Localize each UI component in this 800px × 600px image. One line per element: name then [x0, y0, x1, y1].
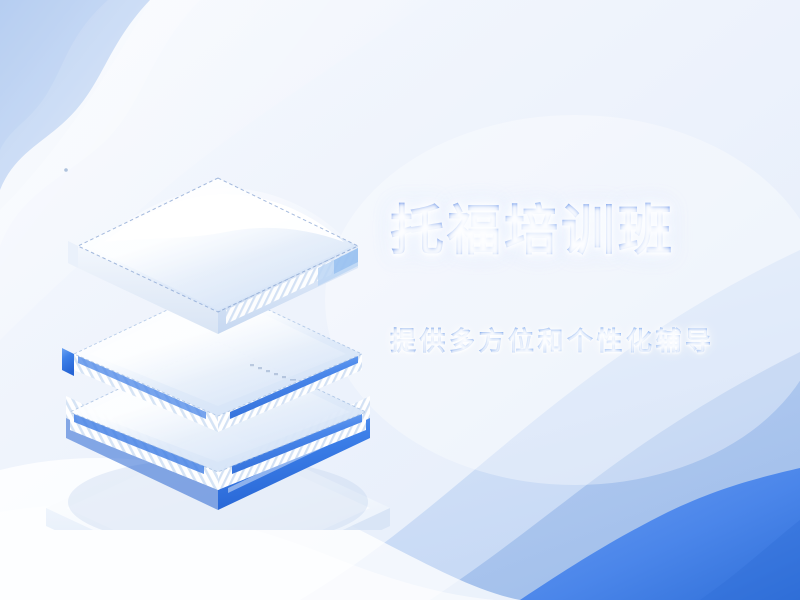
- book-stack-svg: [18, 150, 418, 530]
- wave-bottom-right-light: [430, 352, 800, 600]
- poster-text-block: 托福培训班 托福培训班 提供多方位和个性化辅导: [390, 200, 790, 358]
- wave-bottom-right-strong: [520, 468, 800, 600]
- wave-bottom-right-accent: [700, 520, 800, 600]
- page-subtitle: 提供多方位和个性化辅导: [390, 321, 790, 358]
- wave-top-left-deep: [0, 0, 108, 150]
- poster-canvas: 托福培训班 托福培训班 提供多方位和个性化辅导: [0, 0, 800, 600]
- book-stack-illustration: [18, 150, 418, 530]
- page-title: 托福培训班 托福培训班: [390, 200, 790, 264]
- sparkle-dot: [64, 168, 68, 172]
- book-top: [68, 178, 358, 334]
- page-title-text: 托福培训班: [390, 201, 675, 261]
